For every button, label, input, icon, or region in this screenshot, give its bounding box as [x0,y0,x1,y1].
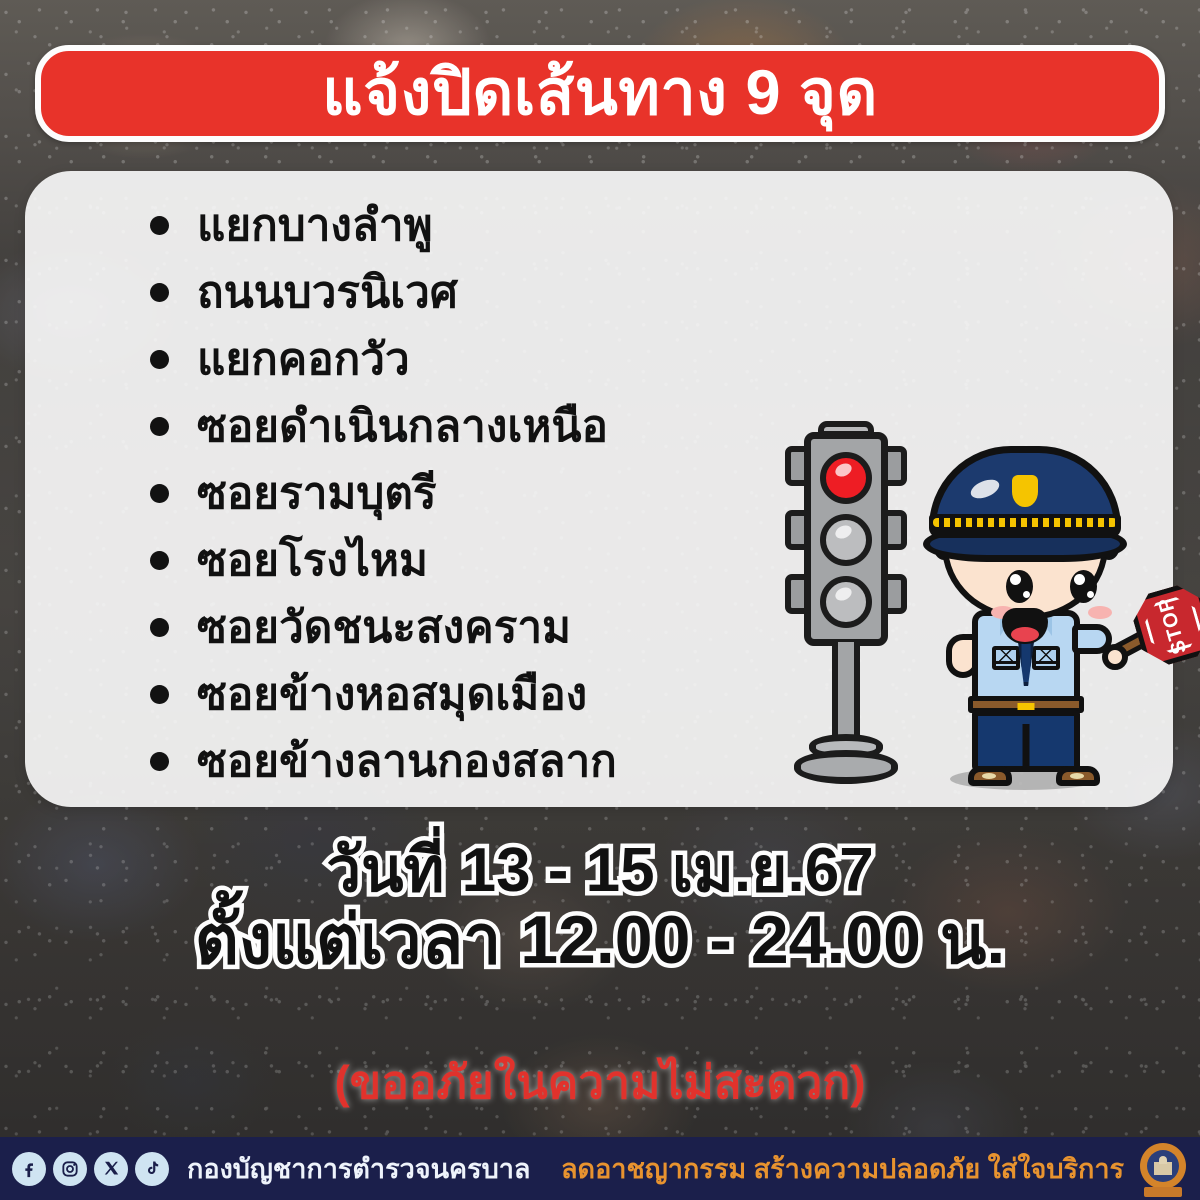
emblem-ribbon [1144,1187,1182,1197]
bullet-icon [150,685,169,704]
trouser-gap [1023,724,1030,766]
route-label: แยกคอกวัว [197,338,410,382]
bullet-icon [150,752,169,771]
social-links [12,1152,169,1186]
list-item: ถนนบวรนิเวศ [150,259,870,326]
list-item: แยกบางลำพู [150,192,870,259]
traffic-light-icon [786,432,906,792]
bullet-icon [150,283,169,302]
mascot-trousers [972,710,1080,772]
route-label: ซอยโรงไหม [197,539,428,583]
bullet-icon [150,551,169,570]
route-label: ซอยข้างหอสมุดเมือง [197,673,587,717]
route-label: ซอยวัดชนะสงคราม [197,606,571,650]
route-label: ซอยรามบุตรี [197,472,437,516]
bullet-icon [150,216,169,235]
route-label: ซอยข้างลานกองสลาก [197,740,617,784]
mascot-shoe-right [1056,766,1100,786]
stop-sign-icon: STOP [1127,579,1200,671]
bullet-icon [150,417,169,436]
mascot-shoe-left [968,766,1012,786]
pocket-flap [995,649,1017,664]
header-banner: แจ้งปิดเส้นทาง 9 จุด [35,45,1165,142]
cap-highlight [968,476,1002,502]
lamp-highlight [833,585,853,603]
footer-slogan: ลดอาชญากรรม สร้างความปลอดภัย ใส่ใจบริการ [561,1147,1124,1190]
emblem-disc [1147,1150,1179,1182]
traffic-light-base [794,750,898,784]
belt-buckle [1018,703,1035,710]
mascot-right-hand [1102,644,1128,670]
schedule-date: วันที่ 13 - 15 เม.ย.67 [0,838,1200,904]
tiktok-icon[interactable] [135,1152,169,1186]
shoe-highlight [1070,773,1084,779]
shoe-highlight [982,773,996,779]
mascot-tongue [1011,627,1039,642]
mascot-eye-right [1070,570,1097,603]
instagram-icon[interactable] [53,1152,87,1186]
schedule-block: วันที่ 13 - 15 เม.ย.67 ตั้งแต่เวลา 12.00… [0,838,1200,976]
route-label: ถนนบวรนิเวศ [197,271,458,315]
police-emblem-icon [1138,1141,1190,1197]
list-item: ซอยโรงไหม [150,527,870,594]
closed-routes-list: แยกบางลำพู ถนนบวรนิเวศ แยกคอกวัว ซอยดำเน… [150,192,870,795]
bullet-icon [150,350,169,369]
list-item: ซอยดำเนินกลางเหนือ [150,393,870,460]
shirt-pocket-left [992,646,1020,670]
lamp-highlight [833,523,853,541]
schedule-time: ตั้งแต่เวลา 12.00 - 24.00 น. [0,904,1200,976]
lamp-highlight [833,461,853,479]
bullet-icon [150,618,169,637]
cap-band [929,514,1121,531]
cap-badge-icon [1012,475,1038,507]
poster: แจ้งปิดเส้นทาง 9 จุด แยกบางลำพู ถนนบวรนิ… [0,0,1200,1200]
shirt-pocket-right [1032,646,1060,670]
list-item: แยกคอกวัว [150,326,870,393]
list-item: ซอยวัดชนะสงคราม [150,594,870,661]
x-icon[interactable] [94,1152,128,1186]
traffic-light-green-lamp [820,576,872,628]
page-title: แจ้งปิดเส้นทาง 9 จุด [322,62,878,125]
list-item: ซอยข้างหอสมุดเมือง [150,661,870,728]
list-item: ซอยข้างลานกองสลาก [150,728,870,795]
mascot-eye-left [1006,570,1033,603]
emblem-dome [1159,1156,1167,1164]
organization-name: กองบัญชาการตำรวจนครบาล [187,1147,530,1190]
pocket-flap [1035,649,1057,664]
footer-bar: กองบัญชาการตำรวจนครบาล ลดอาชญากรรม สร้าง… [0,1137,1200,1200]
traffic-light-yellow-lamp [820,514,872,566]
facebook-icon[interactable] [12,1152,46,1186]
bullet-icon [150,484,169,503]
route-label: แยกบางลำพู [197,204,433,248]
traffic-light-red-lamp [820,452,872,504]
mascot-cheek-right [1088,606,1112,619]
list-item: ซอยรามบุตรี [150,460,870,527]
apology-note: (ขออภัยในความไม่สะดวก) [0,1046,1200,1119]
police-officer-mascot: STOP [920,438,1170,798]
cap-braid [933,518,1117,527]
route-label: ซอยดำเนินกลางเหนือ [197,405,608,449]
